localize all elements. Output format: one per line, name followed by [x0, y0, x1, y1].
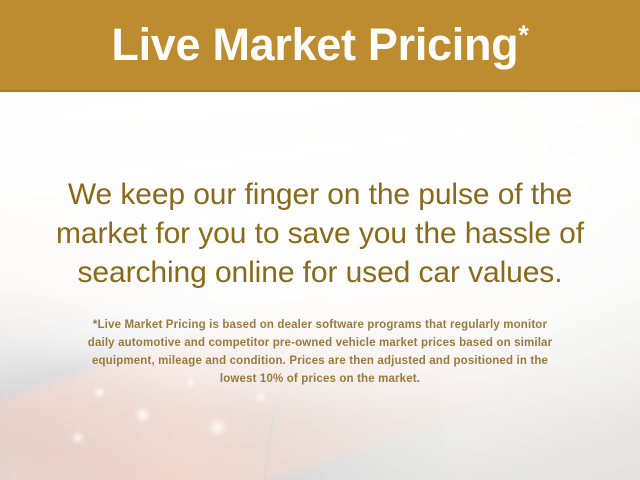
live-market-pricing-slide: Live Market Pricing* We keep our finger … [0, 0, 640, 480]
disclaimer-fineprint: *Live Market Pricing is based on dealer … [24, 316, 616, 388]
fineprint-line-4: lowest 10% of prices on the market. [24, 370, 616, 388]
page-title-text: Live Market Pricing [111, 19, 518, 70]
headline-line-1: We keep our finger on the pulse of the [22, 175, 618, 214]
headline-line-2: market for you to save you the hassle of [22, 214, 618, 253]
content-area: We keep our finger on the pulse of the m… [0, 92, 640, 480]
headline-line-3: searching online for used car values. [22, 253, 618, 292]
fineprint-line-2: daily automotive and competitor pre-owne… [24, 334, 616, 352]
fineprint-line-1: *Live Market Pricing is based on dealer … [24, 316, 616, 334]
headline: We keep our finger on the pulse of the m… [22, 175, 618, 292]
header-banner: Live Market Pricing* [0, 0, 640, 92]
page-title-asterisk: * [518, 20, 528, 50]
fineprint-line-3: equipment, mileage and condition. Prices… [24, 352, 616, 370]
page-title: Live Market Pricing* [111, 22, 528, 67]
